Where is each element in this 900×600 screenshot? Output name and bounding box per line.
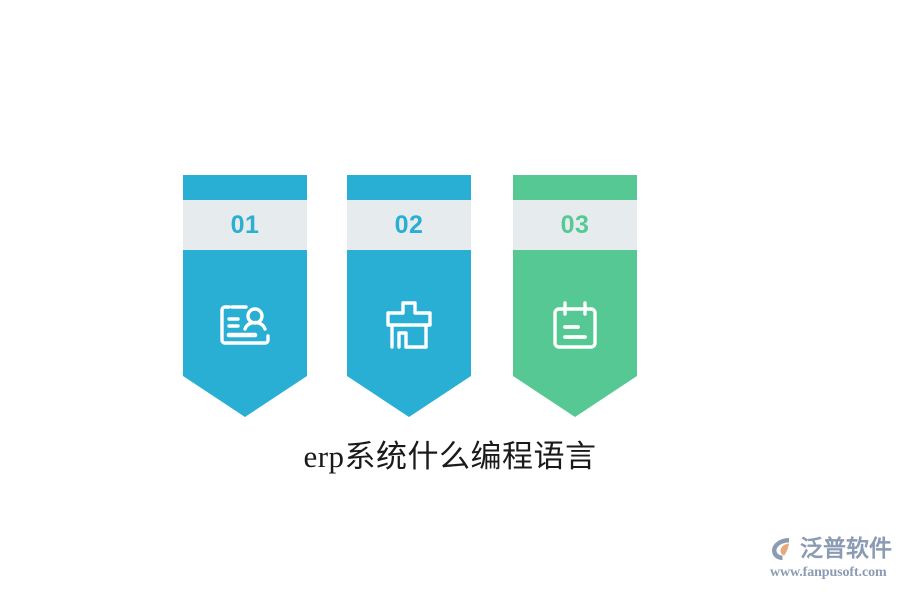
banner-number-band-01: 01: [183, 200, 307, 250]
fanpu-logo-icon: [768, 534, 798, 564]
notepad-lines-icon: [513, 295, 637, 355]
banner-number-label-01: 01: [231, 213, 260, 238]
banner-item-02[interactable]: 02: [347, 175, 471, 417]
storefront-icon: [347, 295, 471, 355]
infographic-canvas: 01 02: [0, 0, 900, 600]
banner-item-01[interactable]: 01: [183, 175, 307, 417]
watermark: 泛普软件 www.fanpusoft.com: [768, 532, 896, 588]
watermark-brand-row: 泛普软件: [768, 532, 892, 566]
banner-number-label-03: 03: [561, 213, 590, 238]
watermark-brand-name: 泛普软件: [800, 538, 892, 561]
id-card-person-icon: [183, 295, 307, 355]
banner-item-03[interactable]: 03: [513, 175, 637, 417]
banner-number-band-02: 02: [347, 200, 471, 250]
banner-number-label-02: 02: [395, 213, 424, 238]
page-title: erp系统什么编程语言: [0, 437, 900, 477]
watermark-url: www.fanpusoft.com: [770, 565, 887, 581]
banner-number-band-03: 03: [513, 200, 637, 250]
banner-group: 01 02: [0, 0, 900, 600]
